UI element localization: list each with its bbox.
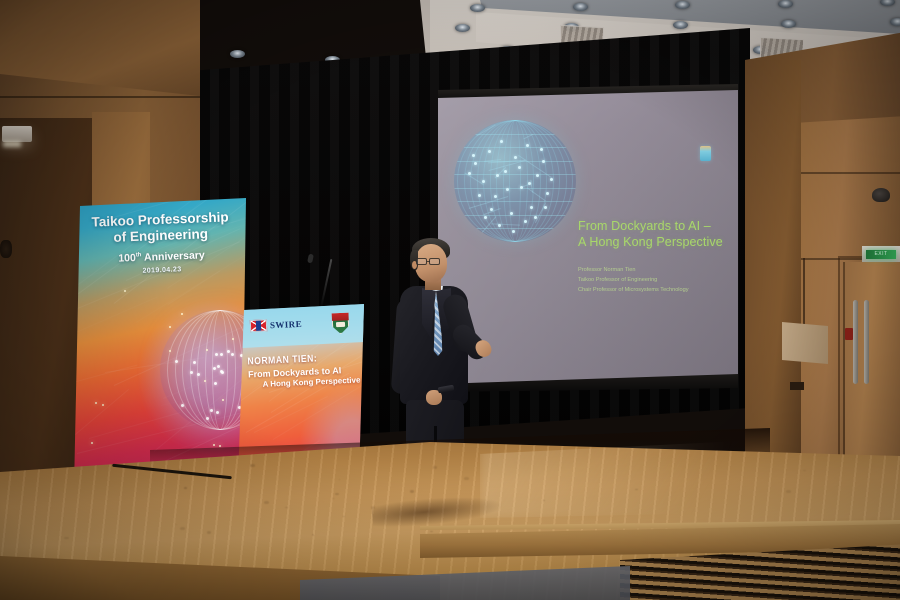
banner-globe-node [190, 371, 193, 374]
eyeglasses-bridge [427, 261, 430, 262]
eyeglasses-icon [416, 258, 427, 265]
globe-node [526, 144, 529, 147]
downlight-icon [230, 50, 245, 58]
wall-speaker-icon [0, 240, 12, 258]
podium-text-block: NORMAN TIEN: From Dockyards to AI A Hong… [247, 351, 360, 389]
slide-subtitle-line-3: Chair Professor of Microsystems Technolo… [578, 286, 728, 296]
globe-node [498, 224, 501, 227]
globe-node [528, 182, 531, 185]
slide-title: From Dockyards to AI – A Hong Kong Persp… [578, 218, 728, 251]
globe-node [506, 188, 509, 191]
floor-mark [250, 464, 254, 467]
floor-mark [178, 469, 182, 471]
floor-mark [264, 501, 268, 504]
downlight-icon [673, 21, 688, 29]
globe-node [544, 206, 547, 209]
globe-node [468, 172, 471, 175]
banner-globe-node [227, 350, 230, 353]
banner-globe-ring [167, 310, 246, 430]
floor-mark [410, 490, 414, 493]
floor-mark [207, 531, 211, 534]
banner-globe-node [213, 367, 216, 370]
hku-logo-icon [700, 146, 711, 161]
banner-text-block: Taikoo Professorship of Engineering 100t… [85, 209, 237, 277]
floor-mark [433, 466, 437, 469]
banner-globe-node [214, 382, 217, 385]
globe-node [546, 192, 549, 195]
globe-node [474, 162, 477, 165]
globe-node [496, 174, 499, 177]
globe-node [482, 180, 485, 183]
banner-title-line-2: of Engineering [113, 226, 208, 245]
globe-node [484, 216, 487, 219]
circuit-globe-icon [454, 120, 576, 242]
wall-mounted-box [782, 322, 828, 364]
banner-globe-node [221, 371, 224, 374]
globe-node [512, 230, 515, 233]
banner-anniversary-label: Anniversary [144, 249, 205, 263]
banner-sparkle [169, 326, 171, 328]
slide-title-line-1: From Dockyards to AI – [578, 218, 728, 234]
downlight-icon [455, 24, 470, 32]
banner-anniversary-suffix: th [136, 252, 142, 258]
globe-node [510, 212, 513, 215]
floor-mark [180, 527, 185, 530]
exit-sign-label: EXIT [866, 250, 896, 259]
crest-band [332, 313, 349, 321]
banner-sparkle [181, 313, 183, 315]
floor-mark [335, 493, 339, 495]
banner-light-streak [74, 365, 138, 385]
globe-node [500, 140, 503, 143]
door-handle[interactable] [864, 300, 869, 384]
swire-flag-icon [250, 319, 267, 332]
globe-node [490, 208, 493, 211]
banner-globe-node [220, 353, 223, 356]
banner-title-line-1: Taikoo Professorship [91, 209, 229, 229]
globe-node [530, 206, 533, 209]
swire-wordmark: SWIRE [270, 319, 302, 330]
globe-node [550, 178, 553, 181]
door-handle[interactable] [853, 300, 858, 384]
floor-mark [285, 507, 288, 509]
hanging-cord [803, 258, 805, 326]
floor-mark [184, 487, 187, 489]
fire-alarm-icon [845, 328, 853, 340]
globe-node [542, 160, 545, 163]
downlight-icon [573, 3, 588, 11]
floor-mark [464, 477, 468, 480]
wall-seam [0, 96, 200, 98]
floor-mark [430, 531, 432, 532]
slide-subtitle: Professor Norman Tien Taikoo Professor o… [578, 266, 728, 295]
globe-node [504, 170, 507, 173]
globe-node [514, 156, 517, 159]
globe-node [478, 194, 481, 197]
ceiling-speaker-icon [872, 188, 890, 202]
banner-sparkle [213, 444, 215, 446]
slide-title-line-2: A Hong Kong Perspective [578, 234, 728, 250]
downlight-icon [470, 4, 485, 12]
globe-node [494, 195, 497, 198]
banner-light-streak [167, 270, 220, 304]
slide-subtitle-line-2: Taikoo Professor of Engineering [578, 276, 728, 286]
banner-anniversary-number: 100 [118, 252, 136, 265]
globe-node [536, 174, 539, 177]
slide-subtitle-line-1: Professor Norman Tien [578, 266, 728, 276]
globe-node [534, 216, 537, 219]
banner-sparkle [102, 404, 104, 406]
exit-sign: EXIT [862, 246, 900, 262]
globe-node [472, 154, 475, 157]
globe-node [488, 150, 491, 153]
downlight-icon [778, 0, 793, 8]
banner-sparkle [95, 402, 97, 404]
crest-book [336, 322, 346, 328]
wall-outlet-icon [790, 382, 804, 390]
floor-mark [543, 500, 544, 501]
banner-sparkle [232, 338, 234, 340]
hku-crest-icon [332, 313, 350, 335]
downlight-icon [781, 20, 796, 28]
globe-node [518, 166, 521, 169]
downlight-icon [675, 1, 690, 9]
banner-globe-node [181, 404, 184, 407]
swire-logo: SWIRE [250, 316, 303, 334]
stage-scene: EXIT From Dockyards to AI – A Hong Kong … [0, 0, 900, 600]
event-banner: Taikoo Professorship of Engineering 100t… [74, 198, 246, 488]
floor-mark [786, 490, 790, 493]
globe-node [524, 220, 527, 223]
banner-sparkle [219, 445, 221, 447]
globe-node [540, 148, 543, 151]
downlight-icon [890, 18, 900, 26]
globe-node [520, 186, 523, 189]
wall-sconce-light [2, 126, 32, 142]
eyeglasses-icon [429, 258, 440, 265]
banner-light-streak [88, 412, 179, 439]
banner-globe-icon [160, 310, 246, 430]
floor-mark [136, 468, 138, 469]
banner-sparkle [91, 442, 93, 444]
